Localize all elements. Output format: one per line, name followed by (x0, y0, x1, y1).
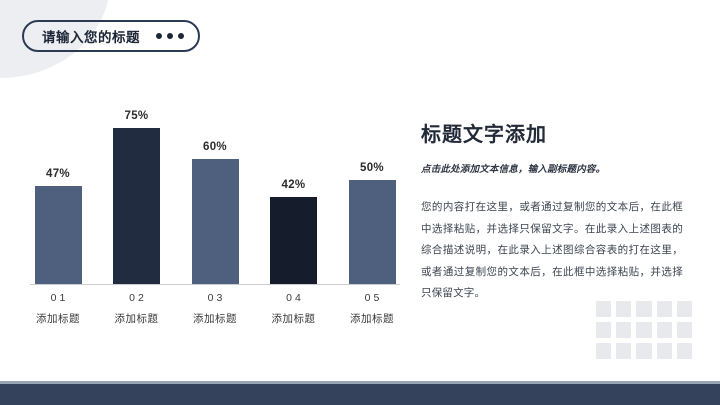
three-dots-icon (156, 33, 184, 39)
category-name: 添加标题 (115, 311, 159, 326)
bar-rect (35, 186, 82, 284)
category-name: 添加标题 (193, 311, 237, 326)
bar-column: 47% (30, 78, 86, 284)
bar-rect (192, 159, 239, 284)
category-label: 02添加标题 (109, 286, 165, 328)
category-index: 03 (205, 292, 226, 304)
page-title: 请输入您的标题 (42, 26, 140, 46)
bar-value-label: 75% (125, 110, 149, 122)
category-label: 01添加标题 (30, 286, 86, 328)
panel-title: 标题文字添加 (421, 118, 683, 147)
chart-plot-area: 47%75%60%42%50% (30, 78, 400, 284)
bar-value-label: 60% (203, 141, 227, 153)
bar-rect (113, 128, 160, 284)
bar-rect (270, 197, 317, 284)
bar-column: 50% (344, 78, 400, 284)
chart-axis-line (30, 284, 400, 285)
category-index: 04 (283, 292, 304, 304)
panel-body-text: 您的内容打在这里，或者通过复制您的文本后，在此框中选择粘贴，并选择只保留文字。在… (421, 197, 683, 305)
bar-rect (349, 180, 396, 284)
bar-column: 75% (109, 78, 165, 284)
category-label: 04添加标题 (266, 286, 322, 328)
bar-column: 42% (266, 78, 322, 284)
panel-subtitle: 点击此处添加文本信息，输入副标题内容。 (421, 161, 683, 175)
category-index: 02 (126, 292, 147, 304)
category-name: 添加标题 (36, 311, 80, 326)
category-index: 01 (48, 292, 69, 304)
slide-title-pill: 请输入您的标题 (22, 20, 200, 52)
category-name: 添加标题 (350, 311, 394, 326)
category-index: 05 (362, 292, 383, 304)
footer-bar (0, 384, 720, 405)
bar-value-label: 42% (282, 179, 306, 191)
bar-column: 60% (187, 78, 243, 284)
category-name: 添加标题 (272, 311, 316, 326)
bar-value-label: 47% (46, 168, 70, 180)
bar-chart: 47%75%60%42%50% 01添加标题02添加标题03添加标题04添加标题… (30, 78, 400, 328)
chart-category-labels: 01添加标题02添加标题03添加标题04添加标题05添加标题 (30, 286, 400, 328)
category-label: 03添加标题 (187, 286, 243, 328)
bar-value-label: 50% (360, 162, 384, 174)
category-label: 05添加标题 (344, 286, 400, 328)
dot-grid-decoration (596, 301, 692, 359)
text-panel: 标题文字添加 点击此处添加文本信息，输入副标题内容。 您的内容打在这里，或者通过… (421, 118, 683, 305)
